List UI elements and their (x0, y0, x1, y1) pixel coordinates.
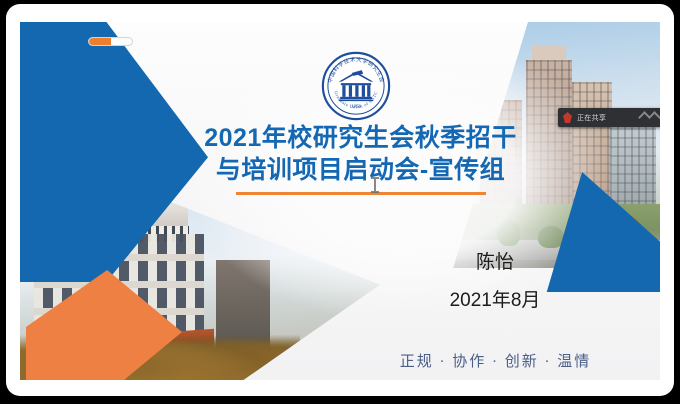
presenter-name: 陈怡 (400, 250, 590, 276)
title-line-1: 2021年校研究生会秋季招干 (188, 122, 533, 154)
presentation-slide[interactable]: 中国科学技术大学研究生会 Graduate Union of USTC 1958 (20, 22, 660, 380)
svg-text:1958: 1958 (351, 104, 361, 109)
screen-share-icon (563, 112, 572, 123)
text-cursor-icon (374, 179, 376, 191)
slogan-text: 正规 · 协作 · 创新 · 温情 (388, 350, 603, 371)
share-status-label: 正在共享 (577, 113, 606, 123)
shrub (498, 220, 520, 246)
app-window: 中国科学技术大学研究生会 Graduate Union of USTC 1958 (6, 4, 674, 396)
presentation-date: 2021年8月 (400, 288, 590, 314)
title-underline-rule (236, 192, 486, 195)
presenter-block: 陈怡 2021年8月 (400, 250, 590, 314)
slide-progress-fill (89, 38, 111, 45)
slide-progress-bar[interactable] (88, 37, 133, 46)
screen-share-toolbar[interactable]: 正在共享 (558, 108, 660, 127)
ustc-graduate-union-seal-icon: 中国科学技术大学研究生会 Graduate Union of USTC 1958 (320, 50, 392, 122)
shrub (538, 226, 564, 248)
chevron-collapse-icon[interactable] (640, 113, 659, 122)
slide-title: 2021年校研究生会秋季招干 与培训项目启动会-宣传组 (188, 122, 533, 195)
title-line-2: 与培训项目启动会-宣传组 (188, 154, 533, 186)
